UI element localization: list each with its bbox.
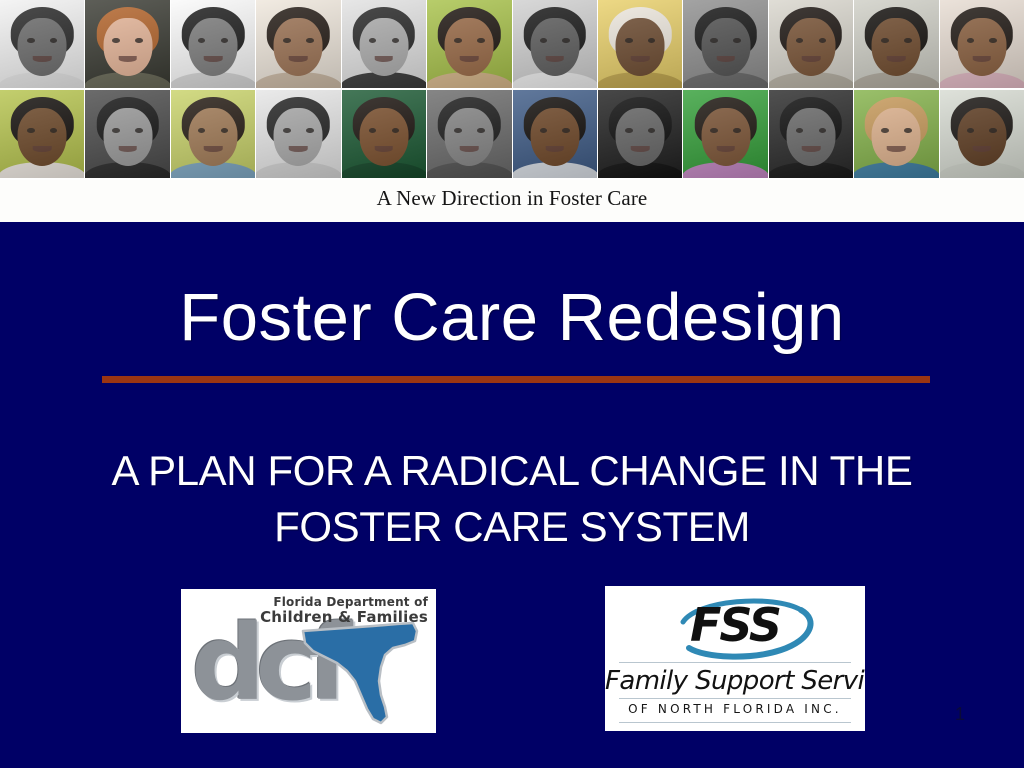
florida-state-shape-icon [301,615,421,727]
mosaic-row-top [0,0,1024,88]
child-portrait-4 [256,0,340,88]
child-portrait-23 [854,90,938,178]
child-portrait-16 [256,90,340,178]
child-portrait-22 [769,90,853,178]
child-portrait-6 [427,0,511,88]
child-portrait-17 [342,90,426,178]
title-underline-rule [102,376,930,383]
fss-divider-2 [619,698,851,699]
banner-caption-band: A New Direction in Foster Care [0,180,1024,222]
banner-caption-text: A New Direction in Foster Care [0,186,1024,211]
child-portrait-12 [940,0,1024,88]
fss-letters: FSS [605,598,865,652]
family-support-services-logo: FSS Family Support Services OF NORTH FLO… [605,586,865,731]
dcf-wordmark: Florida Department of Children & Familie… [260,596,428,625]
page-subtitle: A PLAN FOR A RADICAL CHANGE IN THE FOSTE… [62,443,962,555]
photo-mosaic-banner [0,0,1024,180]
child-portrait-5 [342,0,426,88]
child-portrait-8 [598,0,682,88]
fss-divider-1 [619,662,851,663]
fss-name-line: Family Support Services [605,666,865,696]
child-portrait-18 [427,90,511,178]
child-portrait-14 [85,90,169,178]
florida-dcf-logo: dcf Florida Department of Children & Fam… [181,589,436,733]
child-portrait-10 [769,0,853,88]
subtitle-line-1: A PLAN FOR A RADICAL CHANGE IN THE [62,443,962,499]
subtitle-line-2: FOSTER CARE SYSTEM [62,499,962,555]
dcf-wordmark-line-2: Children & Families [260,609,428,625]
fss-sub-line: OF NORTH FLORIDA INC. [605,702,865,716]
child-portrait-24 [940,90,1024,178]
child-portrait-2 [85,0,169,88]
child-portrait-11 [854,0,938,88]
fss-mark: FSS [605,592,865,664]
slide-page-number: 1 [940,704,980,725]
child-portrait-20 [598,90,682,178]
presentation-slide: A New Direction in Foster Care Foster Ca… [0,0,1024,768]
child-portrait-21 [683,90,767,178]
dcf-wordmark-line-1: Florida Department of [260,596,428,609]
child-portrait-9 [683,0,767,88]
child-portrait-19 [513,90,597,178]
mosaic-row-bottom [0,90,1024,178]
child-portrait-15 [171,90,255,178]
page-title: Foster Care Redesign [0,284,1024,351]
child-portrait-13 [0,90,84,178]
child-portrait-7 [513,0,597,88]
child-portrait-3 [171,0,255,88]
fss-divider-3 [619,722,851,723]
child-portrait-1 [0,0,84,88]
